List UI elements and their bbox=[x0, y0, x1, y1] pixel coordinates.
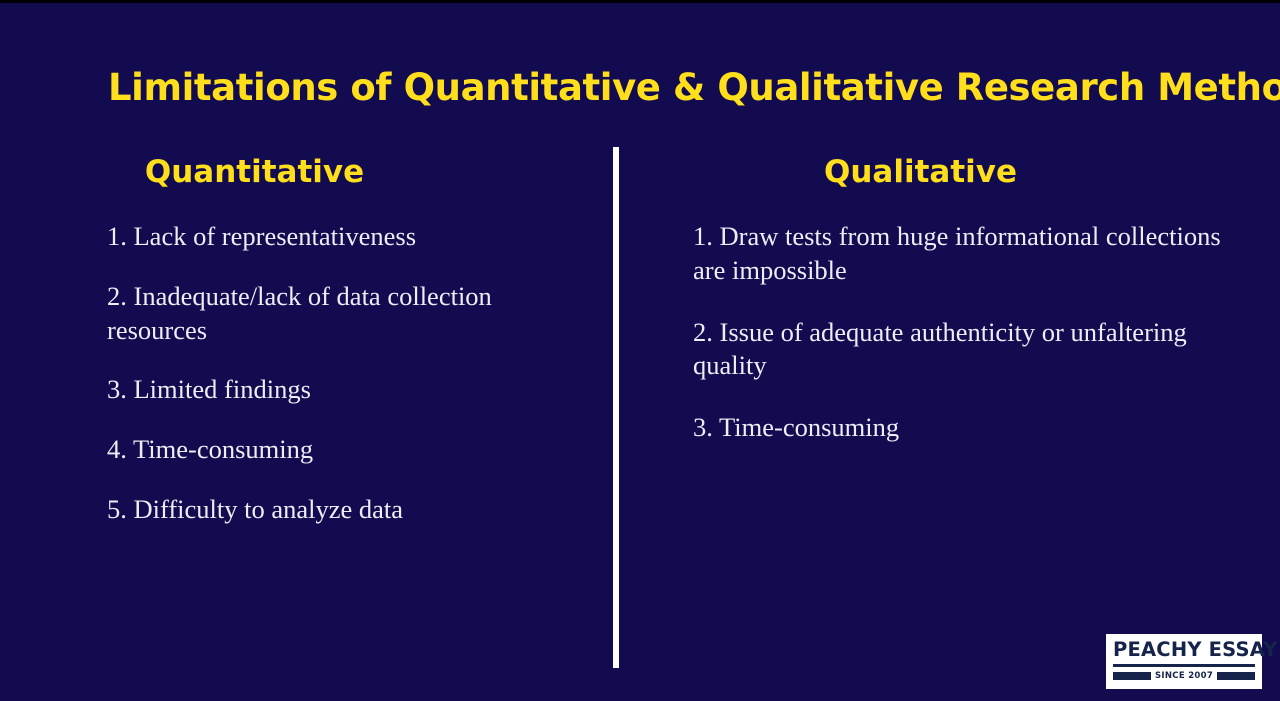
list-item: 3. Limited findings bbox=[107, 373, 597, 407]
list-item: 5. Difficulty to analyze data bbox=[107, 493, 597, 527]
limitations-list-qualitative: 1. Draw tests from huge informational co… bbox=[693, 220, 1238, 446]
slide-canvas: Limitations of Quantitative & Qualitativ… bbox=[0, 0, 1280, 701]
logo-bar-right bbox=[1217, 672, 1255, 680]
column-qualitative: Qualitative 1. Draw tests from huge info… bbox=[693, 153, 1238, 473]
logo-bar-left bbox=[1113, 672, 1151, 680]
logo-since-text: SINCE 2007 bbox=[1151, 671, 1217, 681]
list-item: 1. Draw tests from huge informational co… bbox=[693, 220, 1238, 288]
list-item: 2. Inadequate/lack of data collection re… bbox=[107, 280, 597, 348]
list-item: 3. Time-consuming bbox=[693, 411, 1238, 445]
list-item: 1. Lack of representativeness bbox=[107, 220, 597, 254]
column-heading-qualitative: Qualitative bbox=[693, 153, 1238, 192]
peachy-essay-logo: PEACHY ESSAY SINCE 2007 bbox=[1106, 634, 1262, 689]
column-heading-quantitative: Quantitative bbox=[107, 153, 597, 192]
logo-rule bbox=[1113, 664, 1255, 668]
page-title: Limitations of Quantitative & Qualitativ… bbox=[108, 66, 1228, 110]
logo-tagline-row: SINCE 2007 bbox=[1113, 671, 1255, 681]
logo-wordmark: PEACHY ESSAY bbox=[1113, 640, 1255, 660]
list-item: 4. Time-consuming bbox=[107, 433, 597, 467]
limitations-list-quantitative: 1. Lack of representativeness 2. Inadequ… bbox=[107, 220, 597, 527]
column-divider bbox=[613, 147, 619, 668]
list-item: 2. Issue of adequate authenticity or unf… bbox=[693, 316, 1238, 384]
column-quantitative: Quantitative 1. Lack of representativene… bbox=[107, 153, 597, 527]
